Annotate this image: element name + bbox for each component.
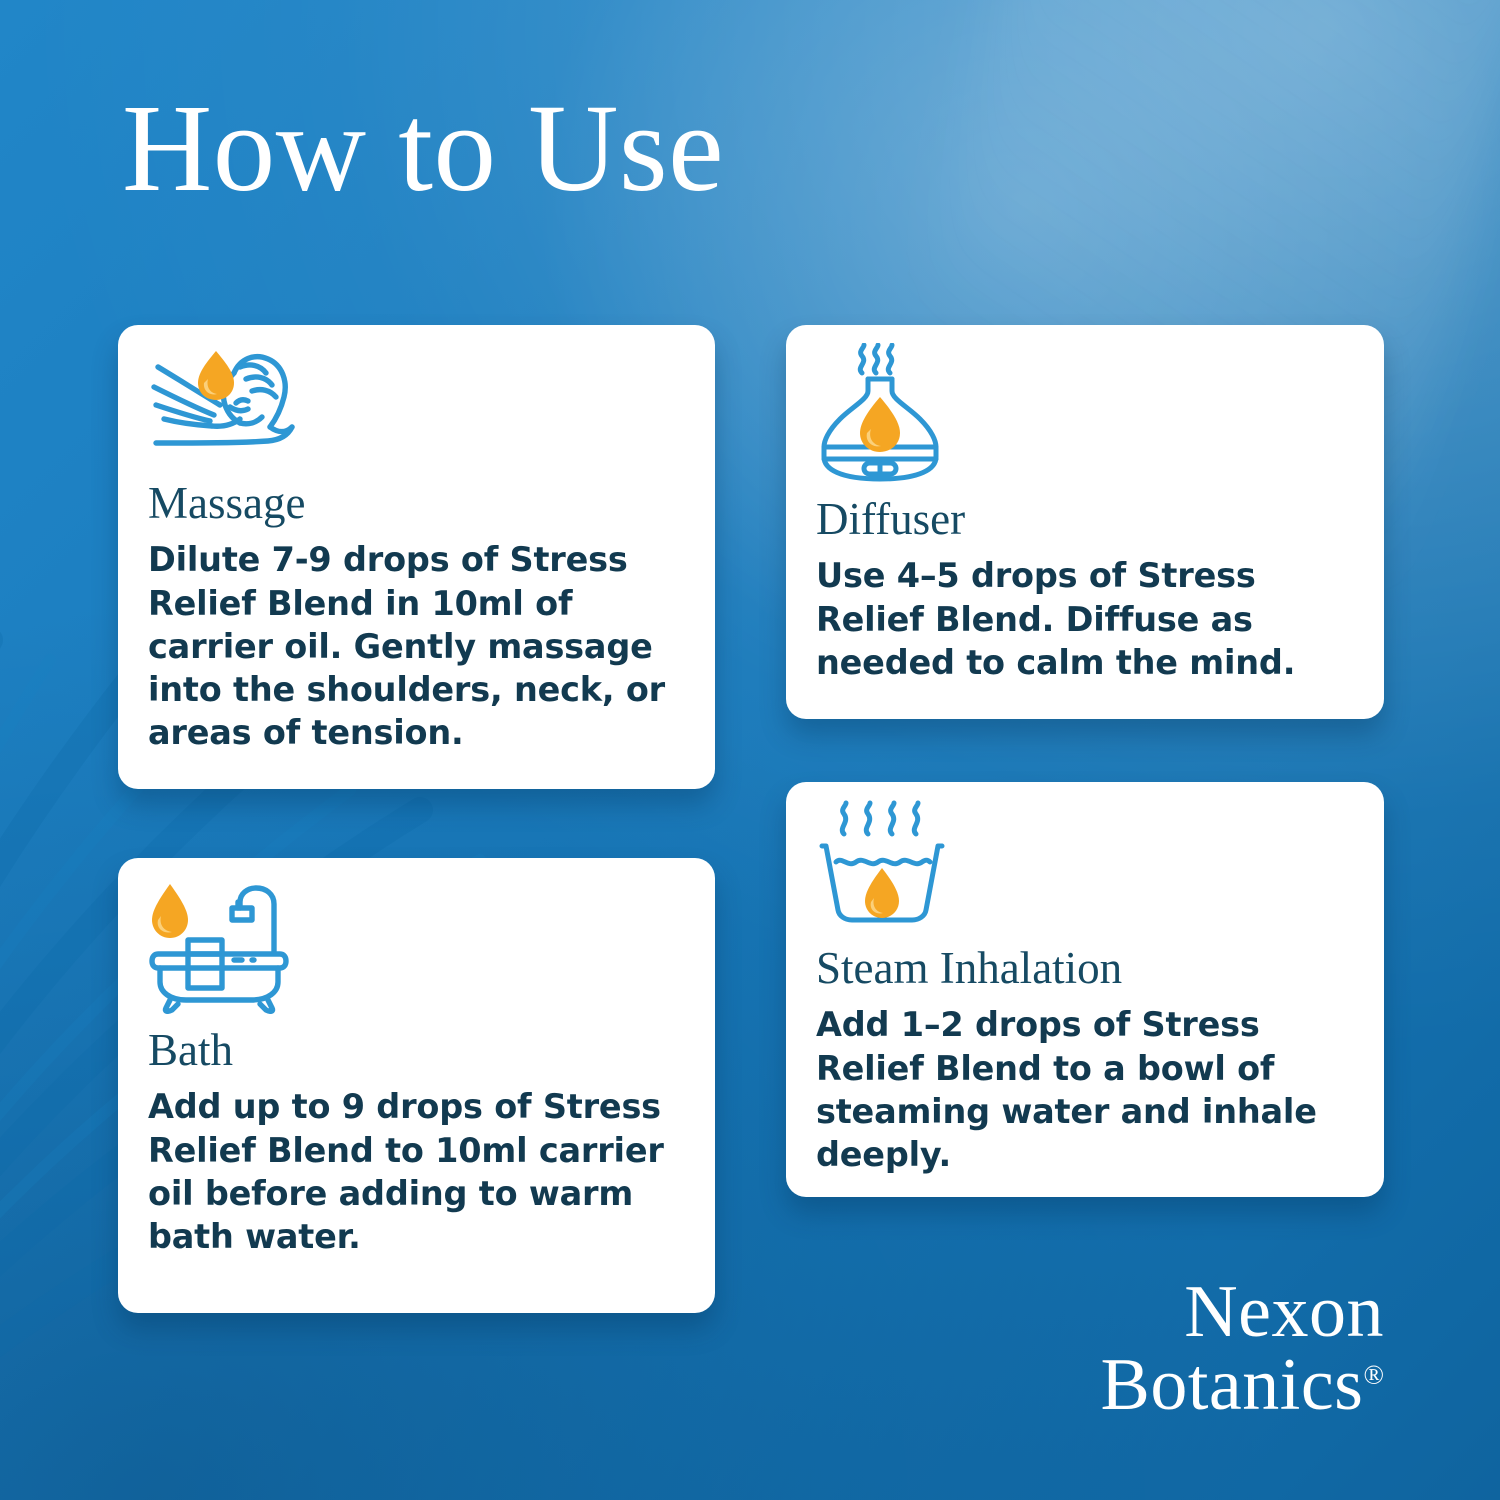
- registered-trademark-icon: ®: [1363, 1359, 1384, 1389]
- card-title: Massage: [148, 478, 689, 528]
- usage-card-massage: Massage Dilute 7-9 drops of Stress Relie…: [118, 325, 715, 789]
- card-body-text: Add up to 9 drops of Stress Relief Blend…: [148, 1085, 689, 1258]
- usage-card-bath: Bath Add up to 9 drops of Stress Relief …: [118, 858, 715, 1313]
- diffuser-icon: [816, 343, 1358, 488]
- steam-bowl-icon: [816, 800, 1358, 937]
- card-title: Bath: [148, 1025, 689, 1075]
- card-body-text: Add 1–2 drops of Stress Relief Blend to …: [816, 1003, 1358, 1176]
- usage-card-steam-inhalation: Steam Inhalation Add 1–2 drops of Stress…: [786, 782, 1384, 1197]
- card-title: Steam Inhalation: [816, 943, 1358, 993]
- card-title: Diffuser: [816, 494, 1358, 544]
- usage-card-diffuser: Diffuser Use 4–5 drops of Stress Relief …: [786, 325, 1384, 719]
- card-body-text: Use 4–5 drops of Stress Relief Blend. Di…: [816, 554, 1358, 684]
- massage-hands-head-icon: [148, 345, 689, 472]
- brand-logo: Nexon Botanics®: [1101, 1276, 1384, 1423]
- brand-logo-word: Botanics: [1101, 1344, 1364, 1426]
- brand-logo-line-1: Nexon: [1101, 1276, 1384, 1349]
- bathtub-icon: [148, 878, 689, 1019]
- how-to-use-infographic: How to Use: [0, 0, 1500, 1500]
- brand-logo-line-2: Botanics®: [1101, 1349, 1384, 1422]
- page-title: How to Use: [122, 84, 724, 215]
- card-body-text: Dilute 7-9 drops of Stress Relief Blend …: [148, 538, 689, 754]
